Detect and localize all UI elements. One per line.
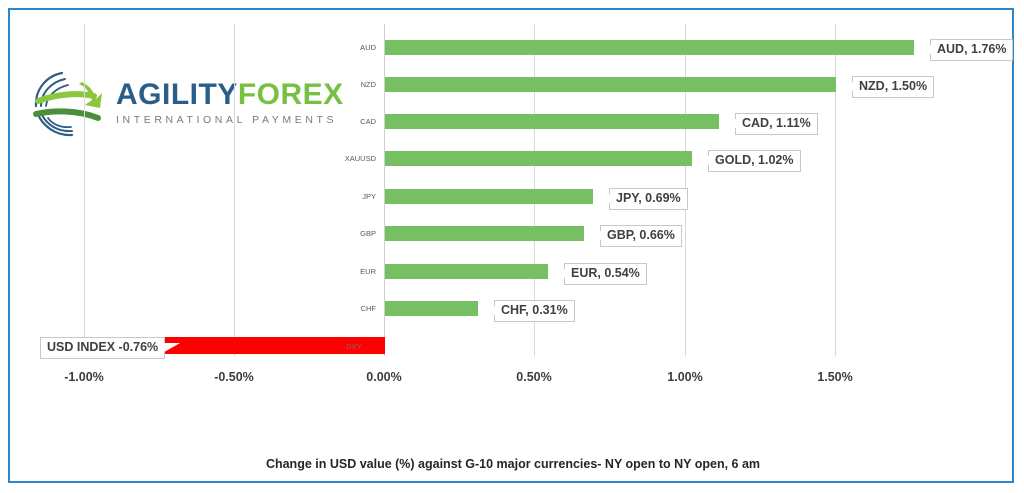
- data-label-text: CHF, 0.31%: [501, 303, 568, 317]
- category-label-eur: EUR: [320, 264, 376, 279]
- data-label-text: AUD, 1.76%: [937, 42, 1006, 56]
- data-label-cad: CAD, 1.11%: [735, 113, 818, 135]
- bar-aud: [385, 40, 914, 55]
- bar-nzd: [385, 77, 836, 92]
- gridline-1.50: [835, 24, 836, 356]
- category-label-jpy: JPY: [320, 189, 376, 204]
- callout-tail: [720, 119, 736, 128]
- bar-eur: [385, 264, 548, 279]
- category-label-xauusd: XAUUSD: [310, 151, 376, 166]
- data-label-text: EUR, 0.54%: [571, 266, 640, 280]
- bar-xauusd: [385, 151, 692, 166]
- xtick-0.50: 0.50%: [489, 370, 579, 384]
- callout-tail: [693, 156, 709, 165]
- xtick--1.00: -1.00%: [39, 370, 129, 384]
- data-label-text: NZD, 1.50%: [859, 79, 927, 93]
- category-label-nzd: NZD: [320, 77, 376, 92]
- data-label-text: JPY, 0.69%: [616, 191, 681, 205]
- data-label-text: CAD, 1.11%: [742, 116, 811, 130]
- category-label-chf: CHF: [320, 301, 376, 316]
- data-label-text: USD INDEX -0.76%: [47, 340, 158, 354]
- gridline--1.00: [84, 24, 85, 356]
- callout-tail: [915, 45, 931, 54]
- callout-tail: [837, 82, 853, 91]
- data-label-gbp: GBP, 0.66%: [600, 225, 682, 247]
- xtick-1.50: 1.50%: [790, 370, 880, 384]
- callout-tail: [594, 194, 610, 203]
- xtick--0.50: -0.50%: [189, 370, 279, 384]
- data-label-eur: EUR, 0.54%: [564, 263, 647, 285]
- bar-cad: [385, 114, 719, 129]
- category-label-gbp: GBP: [320, 226, 376, 241]
- data-label-gold: GOLD, 1.02%: [708, 150, 801, 172]
- bar-gbp: [385, 226, 584, 241]
- xtick-1.00: 1.00%: [640, 370, 730, 384]
- chart-caption: Change in USD value (%) against G-10 maj…: [10, 457, 1016, 471]
- callout-tail: [479, 306, 495, 315]
- data-label-aud: AUD, 1.76%: [930, 39, 1013, 61]
- data-label-text: GBP, 0.66%: [607, 228, 675, 242]
- gridline--0.50: [234, 24, 235, 356]
- category-label-dxy: DXY: [346, 338, 386, 355]
- category-label-cad: CAD: [320, 114, 376, 129]
- callout-tail: [585, 231, 601, 240]
- bar-chf: [385, 301, 478, 316]
- callout-tail: [549, 269, 565, 278]
- data-label-nzd: NZD, 1.50%: [852, 76, 934, 98]
- xtick-0.00: 0.00%: [339, 370, 429, 384]
- chart-frame: AGILITYFOREX INTERNATIONAL PAYMENTS AUD …: [8, 8, 1014, 483]
- bar-chart: AUD AUD, 1.76% NZD NZD, 1.50% CAD CAD, 1…: [10, 10, 1016, 485]
- data-label-chf: CHF, 0.31%: [494, 300, 575, 322]
- data-label-jpy: JPY, 0.69%: [609, 188, 688, 210]
- data-label-usd-index: USD INDEX -0.76%: [40, 337, 165, 359]
- bar-jpy: [385, 189, 593, 204]
- data-label-text: GOLD, 1.02%: [715, 153, 794, 167]
- category-label-aud: AUD: [320, 40, 376, 55]
